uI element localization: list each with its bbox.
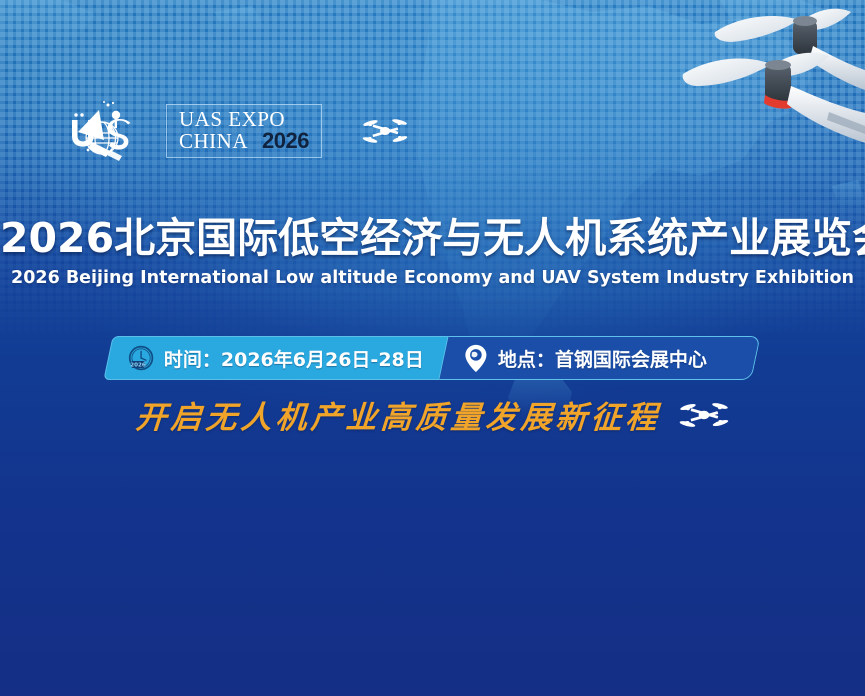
event-info-bar: 2026 时间：2026年6月26日-28日 地点：首钢国际会展中心 [103, 336, 760, 380]
quadcopter-drone-icon [362, 114, 408, 148]
uas-globe-satellite-emblem [66, 98, 150, 164]
event-time-text: 时间：2026年6月26日-28日 [164, 345, 424, 372]
clock-icon: 2026 [128, 344, 154, 372]
dot-matrix-overlay [0, 0, 865, 340]
slogan-row: 开启无人机产业高质量发展新征程 [0, 392, 865, 437]
expo-name-line2: CHINA [179, 131, 248, 152]
clock-icon-year: 2026 [130, 363, 146, 369]
drone-photo [679, 0, 865, 164]
event-place-segment: 地点：首钢国际会展中心 [439, 336, 760, 380]
expo-year: 2026 [262, 130, 309, 152]
expo-name-line1: UAS EXPO [179, 109, 309, 130]
poster-title-chinese: 2026北京国际低空经济与无人机系统产业展览会 [0, 204, 865, 264]
brand-header: UAS EXPO CHINA 2026 [66, 98, 408, 164]
event-time-segment: 2026 时间：2026年6月26日-28日 [103, 336, 448, 380]
slogan-text: 开启无人机产业高质量发展新征程 [134, 392, 662, 437]
expo-name-box: UAS EXPO CHINA 2026 [166, 104, 322, 159]
location-pin-icon [464, 344, 488, 373]
exhibition-poster: UAS EXPO CHINA 2026 2026北京国际低空经济 [0, 0, 865, 696]
quadcopter-drone-icon [679, 398, 729, 432]
poster-title-english: 2026 Beijing International Low altitude … [0, 268, 865, 288]
event-place-text: 地点：首钢国际会展中心 [498, 345, 707, 372]
